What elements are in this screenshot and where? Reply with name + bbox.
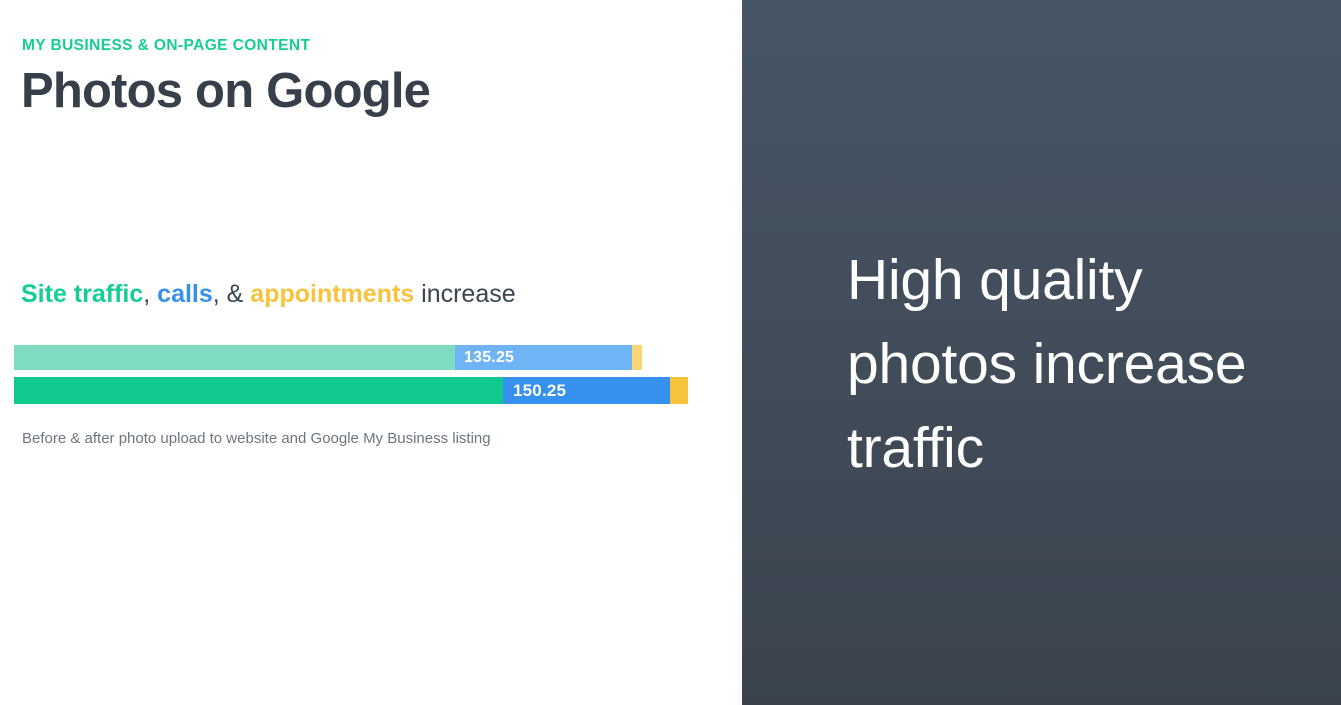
bar-segment-appointments-after [670, 377, 688, 404]
page-title: Photos on Google [21, 63, 430, 119]
bar-segment-appointments-before [632, 345, 642, 370]
bar-segment-site-traffic-after [14, 377, 503, 404]
stat-headline: Site traffic, calls, & appointments incr… [21, 280, 516, 309]
headline-keyword-site-traffic: Site traffic [21, 280, 143, 308]
right-panel-headline: High quality photos increase traffic [847, 238, 1317, 490]
stacked-bar-chart: 135.25 150.25 [14, 345, 714, 405]
headline-separator-1: , [143, 280, 157, 308]
left-content-panel: MY BUSINESS & ON-PAGE CONTENT Photos on … [0, 0, 742, 705]
bar-segment-label: 135.25 [455, 350, 514, 366]
slide-root: MY BUSINESS & ON-PAGE CONTENT Photos on … [0, 0, 1341, 705]
headline-tail: increase [414, 280, 515, 308]
bar-segment-calls-after: 150.25 [503, 377, 670, 404]
right-dark-panel: High quality photos increase traffic [742, 0, 1341, 705]
chart-caption: Before & after photo upload to website a… [22, 430, 491, 447]
bar-row: 150.25 [14, 377, 688, 404]
bar-segment-site-traffic-before [14, 345, 455, 370]
bar-segment-calls-before: 135.25 [455, 345, 632, 370]
bar-row: 135.25 [14, 345, 642, 370]
headline-keyword-appointments: appointments [250, 280, 414, 308]
bar-segment-label: 150.25 [503, 382, 566, 399]
section-eyebrow: MY BUSINESS & ON-PAGE CONTENT [22, 37, 310, 55]
headline-separator-2: , & [213, 280, 251, 308]
headline-keyword-calls: calls [157, 280, 213, 308]
